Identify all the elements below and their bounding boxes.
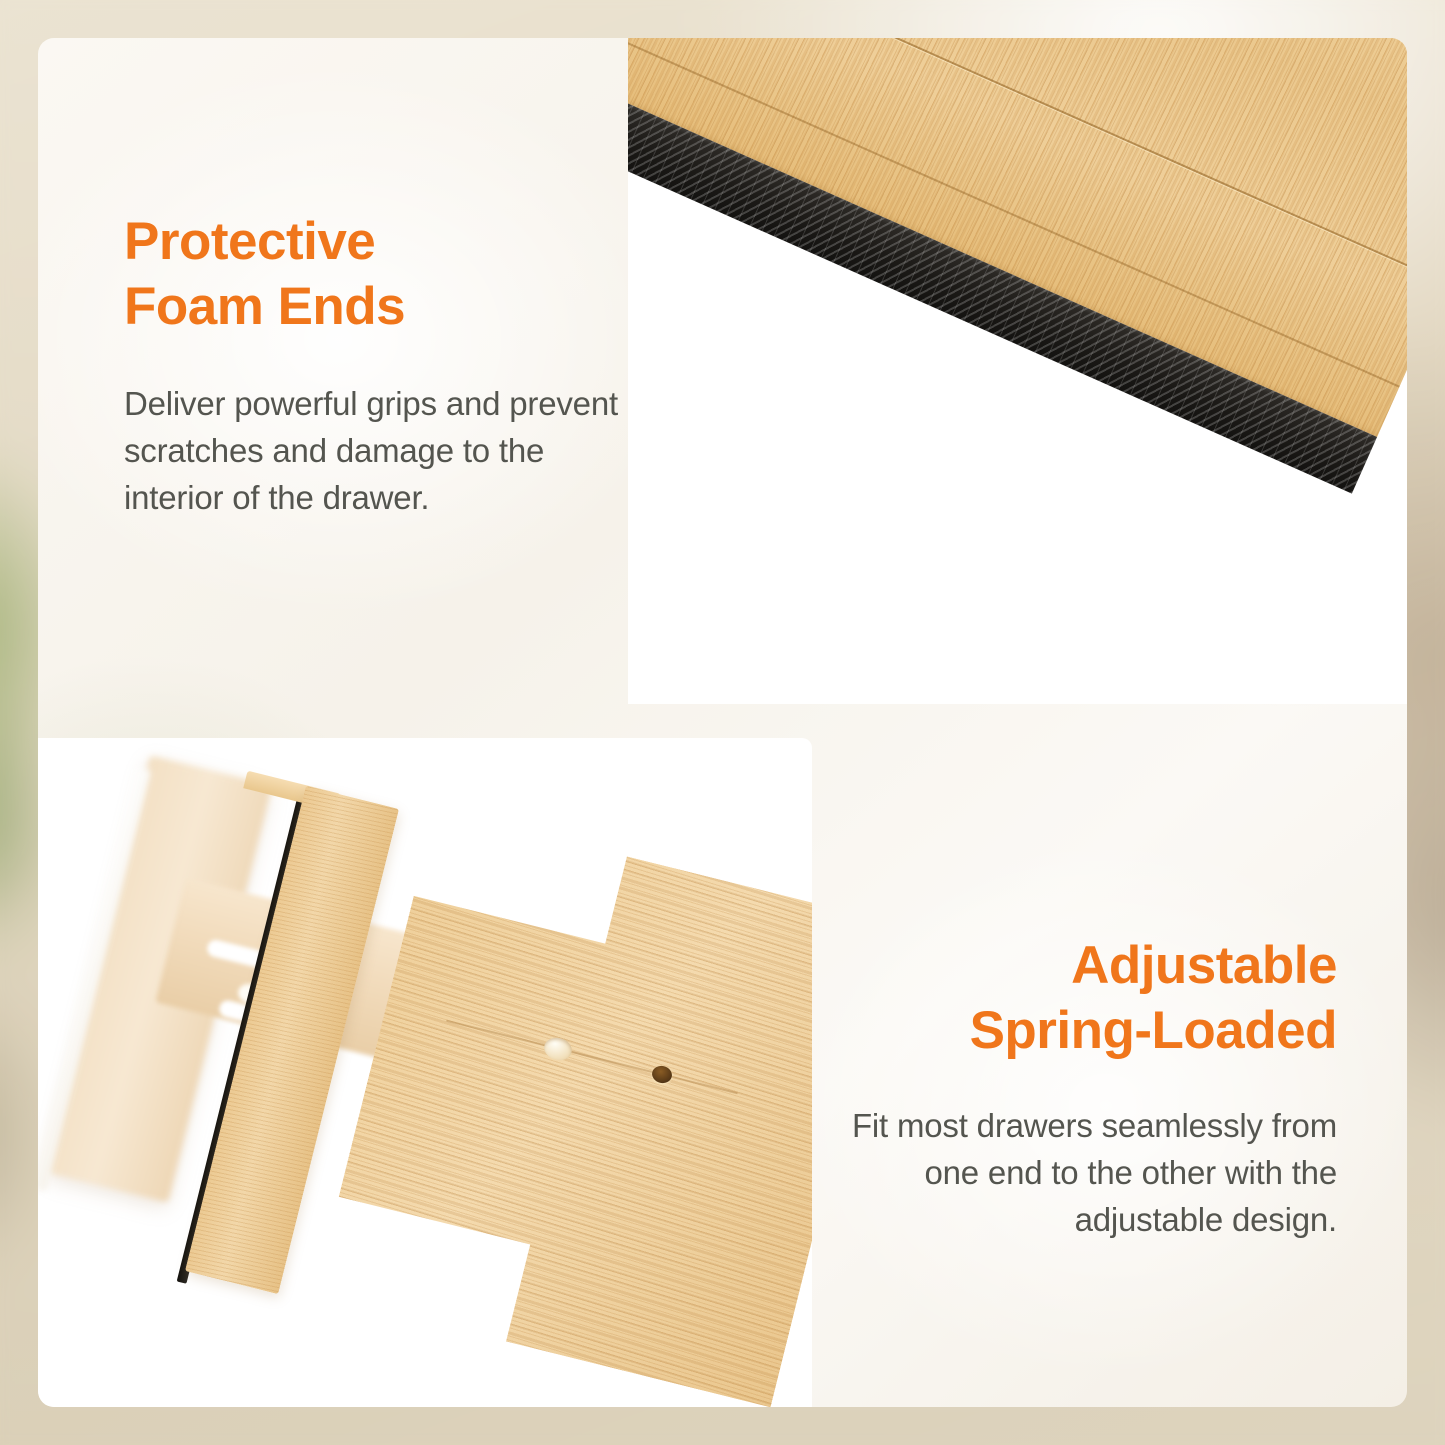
body-spring-loaded: Fit most drawers seamlessly from one end…: [817, 1103, 1337, 1244]
headline-spring-loaded-line2: Spring-Loaded: [970, 1001, 1337, 1060]
headline-spring-loaded-line1: Adjustable: [1071, 936, 1337, 995]
headline-foam-ends: ProtectiveFoam Ends: [124, 210, 624, 339]
product-feature-infographic: ProtectiveFoam Ends Deliver powerful gri…: [0, 0, 1445, 1445]
feature-text-spring-loaded: AdjustableSpring-Loaded Fit most drawers…: [817, 934, 1337, 1244]
body-foam-ends: Deliver powerful grips and prevent scrat…: [124, 381, 624, 522]
bamboo-plank: [628, 38, 1407, 519]
notched-bamboo-board: [315, 809, 812, 1407]
photo-panel-spring-loaded: [38, 738, 812, 1407]
photo-panel-foam-ends: [628, 38, 1407, 704]
headline-foam-ends-line2: Foam Ends: [124, 277, 405, 336]
feature-text-foam-ends: ProtectiveFoam Ends Deliver powerful gri…: [124, 210, 624, 522]
bamboo-plank-face: [628, 38, 1407, 437]
collage-card: ProtectiveFoam Ends Deliver powerful gri…: [38, 38, 1407, 1407]
divider-mechanism-scene: [38, 738, 812, 1407]
headline-foam-ends-line1: Protective: [124, 212, 375, 271]
headline-spring-loaded: AdjustableSpring-Loaded: [817, 934, 1337, 1063]
